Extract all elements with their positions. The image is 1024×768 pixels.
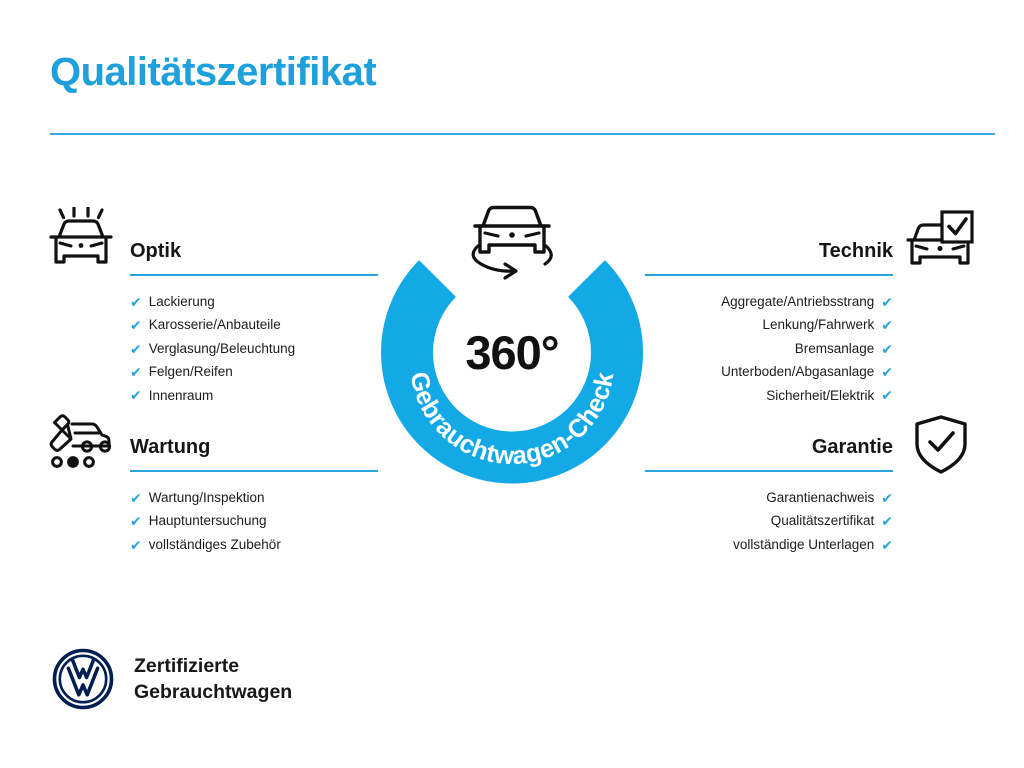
section-optik-header: Optik: [130, 238, 378, 276]
footer-line-1: Zertifizierte: [134, 653, 292, 679]
section-wartung-header: Wartung: [130, 434, 378, 472]
check-icon: ✔: [130, 365, 142, 379]
check-icon: ✔: [130, 514, 142, 528]
checklist-item: Lenkung/Fahrwerk✔: [645, 313, 893, 336]
checklist-item: Aggregate/Antriebsstrang✔: [645, 290, 893, 313]
checklist-item-label: Innenraum: [149, 384, 214, 407]
checklist-item-label: Lenkung/Fahrwerk: [762, 313, 874, 336]
check-icon: ✔: [881, 365, 893, 379]
checklist-item-label: Unterboden/Abgasanlage: [721, 360, 874, 383]
check-icon: ✔: [881, 318, 893, 332]
shield-check-icon: [912, 414, 970, 481]
check-icon: ✔: [130, 491, 142, 505]
checklist-item: ✔Hauptuntersuchung: [130, 509, 378, 532]
checklist-item-label: vollständige Unterlagen: [733, 533, 874, 556]
section-optik: Optik ✔Lackierung✔Karosserie/Anbauteile✔…: [130, 238, 378, 407]
check-icon: ✔: [881, 388, 893, 402]
section-technik-list: Aggregate/Antriebsstrang✔Lenkung/Fahrwer…: [645, 290, 893, 407]
gebrauchtwagen-check-badge: Gebrauchtwagen-Check 360°: [362, 192, 662, 492]
section-garantie-list: Garantienachweis✔Qualitätszertifikat✔vol…: [645, 486, 893, 556]
checklist-item-label: Verglasung/Beleuchtung: [149, 337, 295, 360]
badge-center-label: 360°: [362, 329, 662, 376]
checklist-item: Sicherheit/Elektrik✔: [645, 384, 893, 407]
vw-certified-logo: Zertifizierte Gebrauchtwagen: [52, 648, 292, 710]
checklist-item-label: Karosserie/Anbauteile: [149, 313, 281, 336]
section-garantie: Garantie Garantienachweis✔Qualitätszerti…: [645, 434, 893, 556]
checklist-item: ✔Innenraum: [130, 384, 378, 407]
section-technik-header: Technik: [645, 238, 893, 276]
vw-logo-icon: [52, 648, 114, 710]
checklist-item: ✔Karosserie/Anbauteile: [130, 313, 378, 336]
checklist-item-label: Lackierung: [149, 290, 215, 313]
car-checkbox-icon: [906, 209, 976, 276]
check-icon: ✔: [881, 514, 893, 528]
check-icon: ✔: [130, 388, 142, 402]
check-icon: ✔: [881, 342, 893, 356]
checklist-item: Bremsanlage✔: [645, 337, 893, 360]
check-icon: ✔: [881, 295, 893, 309]
qualitaetszertifikat-page: Qualitätszertifikat Optik ✔Lackierung✔Ka…: [0, 0, 1024, 768]
checklist-item: ✔Felgen/Reifen: [130, 360, 378, 383]
section-optik-list: ✔Lackierung✔Karosserie/Anbauteile✔Vergla…: [130, 290, 378, 407]
checklist-item: ✔Wartung/Inspektion: [130, 486, 378, 509]
car-service-tool-icon: [47, 412, 113, 475]
section-technik-title: Technik: [645, 238, 893, 264]
section-technik: Technik Aggregate/Antriebsstrang✔Lenkung…: [645, 238, 893, 407]
title-divider: [50, 133, 995, 135]
section-wartung-list: ✔Wartung/Inspektion✔Hauptuntersuchung✔vo…: [130, 486, 378, 556]
section-optik-underline: [130, 274, 378, 276]
checklist-item-label: Hauptuntersuchung: [149, 509, 267, 532]
checklist-item-label: Bremsanlage: [795, 337, 875, 360]
section-wartung-title: Wartung: [130, 434, 378, 460]
check-icon: ✔: [130, 318, 142, 332]
car-front-headlights-icon: [47, 207, 113, 274]
section-wartung-underline: [130, 470, 378, 472]
check-icon: ✔: [130, 295, 142, 309]
checklist-item: ✔Lackierung: [130, 290, 378, 313]
checklist-item-label: Wartung/Inspektion: [149, 486, 265, 509]
checklist-item-label: Qualitätszertifikat: [771, 509, 875, 532]
check-icon: ✔: [881, 491, 893, 505]
checklist-item: ✔Verglasung/Beleuchtung: [130, 337, 378, 360]
checklist-item-label: vollständiges Zubehör: [149, 533, 281, 556]
section-technik-underline: [645, 274, 893, 276]
footer-line-2: Gebrauchtwagen: [134, 679, 292, 705]
section-garantie-title: Garantie: [645, 434, 893, 460]
checklist-item: Qualitätszertifikat✔: [645, 509, 893, 532]
checklist-item-label: Sicherheit/Elektrik: [766, 384, 874, 407]
section-garantie-underline: [645, 470, 893, 472]
section-garantie-header: Garantie: [645, 434, 893, 472]
checklist-item: ✔vollständiges Zubehör: [130, 533, 378, 556]
checklist-item: vollständige Unterlagen✔: [645, 533, 893, 556]
checklist-item-label: Aggregate/Antriebsstrang: [721, 290, 874, 313]
page-title: Qualitätszertifikat: [50, 50, 376, 94]
checklist-item-label: Garantienachweis: [766, 486, 874, 509]
checklist-item-label: Felgen/Reifen: [149, 360, 233, 383]
check-icon: ✔: [130, 538, 142, 552]
vw-certified-text: Zertifizierte Gebrauchtwagen: [134, 653, 292, 705]
checklist-item: Unterboden/Abgasanlage✔: [645, 360, 893, 383]
section-wartung: Wartung ✔Wartung/Inspektion✔Hauptuntersu…: [130, 434, 378, 556]
section-optik-title: Optik: [130, 238, 378, 264]
checklist-item: Garantienachweis✔: [645, 486, 893, 509]
check-icon: ✔: [130, 342, 142, 356]
check-icon: ✔: [881, 538, 893, 552]
